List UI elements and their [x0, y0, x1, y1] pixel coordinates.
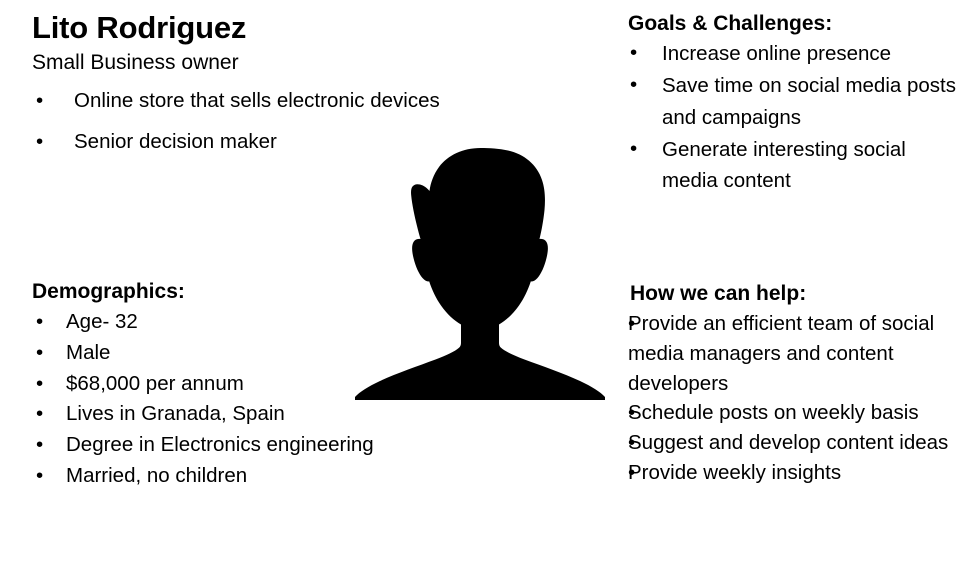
bullet-dot-icon: • [630, 38, 637, 68]
list-item-label: Schedule posts on weekly basis [628, 401, 919, 424]
list-item: •Provide weekly insights [628, 458, 964, 488]
help-section: How we can help: •Provide an efficient t… [628, 280, 964, 488]
bullet-dot-icon: • [36, 127, 43, 157]
bullet-dot-icon: • [36, 399, 43, 429]
list-item: •Save time on social media posts and cam… [630, 70, 958, 134]
list-item-label: Generate interesting social media conten… [662, 138, 906, 193]
bullet-dot-icon: • [630, 134, 637, 164]
help-list: •Provide an efficient team of social med… [628, 309, 964, 487]
list-item: •Married, no children [36, 461, 390, 491]
list-item-label: $68,000 per annum [66, 372, 244, 395]
list-item-label: Provide weekly insights [628, 461, 841, 484]
list-item: •Degree in Electronics engineering [36, 430, 390, 460]
bullet-dot-icon: • [628, 458, 635, 488]
person-silhouette-icon [330, 138, 630, 400]
list-item: •Generate interesting social media conte… [630, 134, 958, 198]
list-item: •Increase online presence [630, 38, 958, 70]
bullet-dot-icon: • [36, 461, 43, 491]
persona-role: Small Business owner [32, 50, 450, 76]
list-item-label: Increase online presence [662, 42, 891, 65]
bullet-dot-icon: • [628, 398, 635, 428]
list-item: •Online store that sells electronic devi… [36, 86, 450, 116]
bullet-dot-icon: • [628, 428, 635, 458]
goals-list: •Increase online presence•Save time on s… [628, 38, 958, 197]
list-item-label: Degree in Electronics engineering [66, 433, 374, 456]
help-heading: How we can help: [630, 280, 964, 307]
list-item-label: Suggest and develop content ideas [628, 431, 948, 454]
list-item-label: Male [66, 341, 110, 364]
bullet-dot-icon: • [36, 338, 43, 368]
list-item-label: Senior decision maker [74, 130, 277, 153]
list-item-label: Save time on social media posts and camp… [662, 74, 956, 129]
bullet-dot-icon: • [628, 309, 635, 339]
bullet-dot-icon: • [36, 369, 43, 399]
list-item: •Schedule posts on weekly basis [628, 398, 964, 428]
list-item-label: Online store that sells electronic devic… [74, 89, 440, 112]
list-item-label: Provide an efficient team of social medi… [628, 312, 934, 394]
list-item: •Suggest and develop content ideas [628, 428, 964, 458]
list-item: •Lives in Granada, Spain [36, 399, 390, 429]
bullet-dot-icon: • [36, 430, 43, 460]
list-item-label: Married, no children [66, 464, 247, 487]
goals-heading: Goals & Challenges: [628, 10, 958, 37]
list-item-label: Age- 32 [66, 310, 138, 333]
persona-card: Lito Rodriguez Small Business owner •Onl… [0, 0, 966, 585]
page-title: Lito Rodriguez [32, 10, 450, 46]
goals-section: Goals & Challenges: •Increase online pre… [628, 10, 958, 197]
bullet-dot-icon: • [36, 307, 43, 337]
list-item-label: Lives in Granada, Spain [66, 402, 285, 425]
bullet-dot-icon: • [36, 86, 43, 116]
bullet-dot-icon: • [630, 70, 637, 100]
list-item: •Provide an efficient team of social med… [628, 309, 964, 398]
